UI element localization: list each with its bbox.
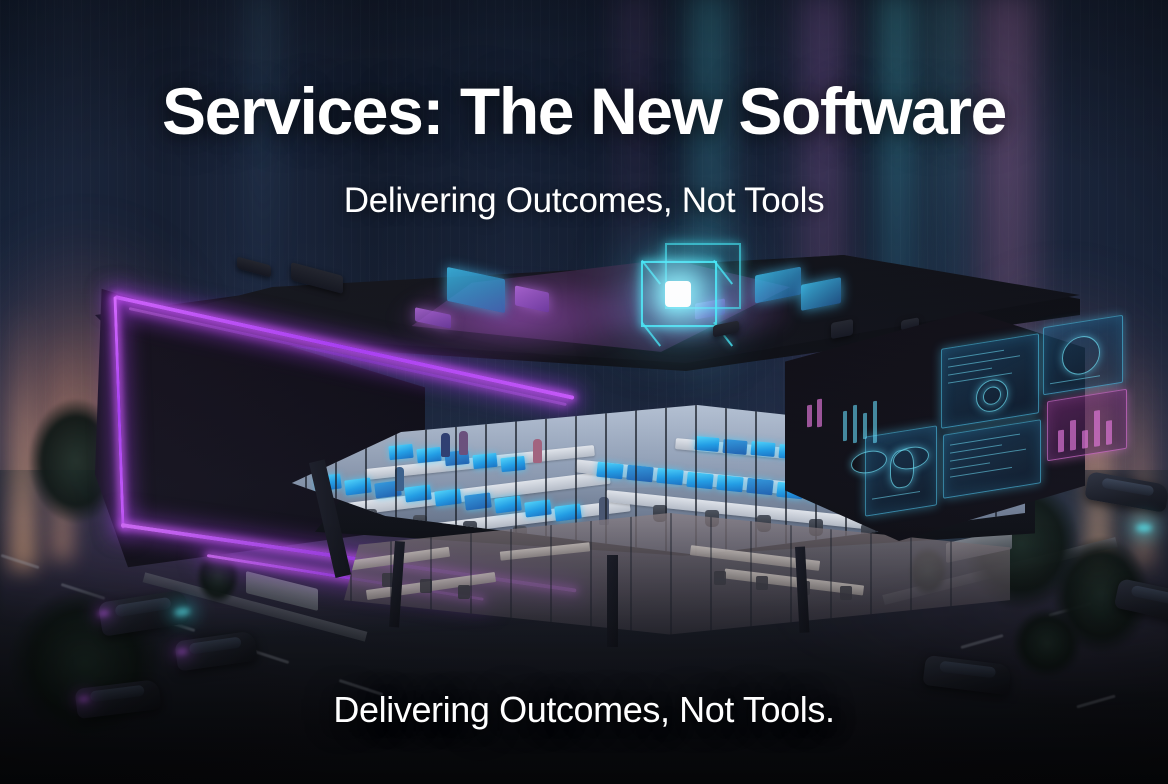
- bottom-caption: Delivering Outcomes, Not Tools.: [0, 692, 1168, 728]
- poster-canvas: Services: The New Software Delivering Ou…: [0, 0, 1168, 784]
- text-overlay: Services: The New Software Delivering Ou…: [0, 0, 1168, 784]
- page-subtitle: Delivering Outcomes, Not Tools: [0, 183, 1168, 218]
- page-title: Services: The New Software: [0, 78, 1168, 144]
